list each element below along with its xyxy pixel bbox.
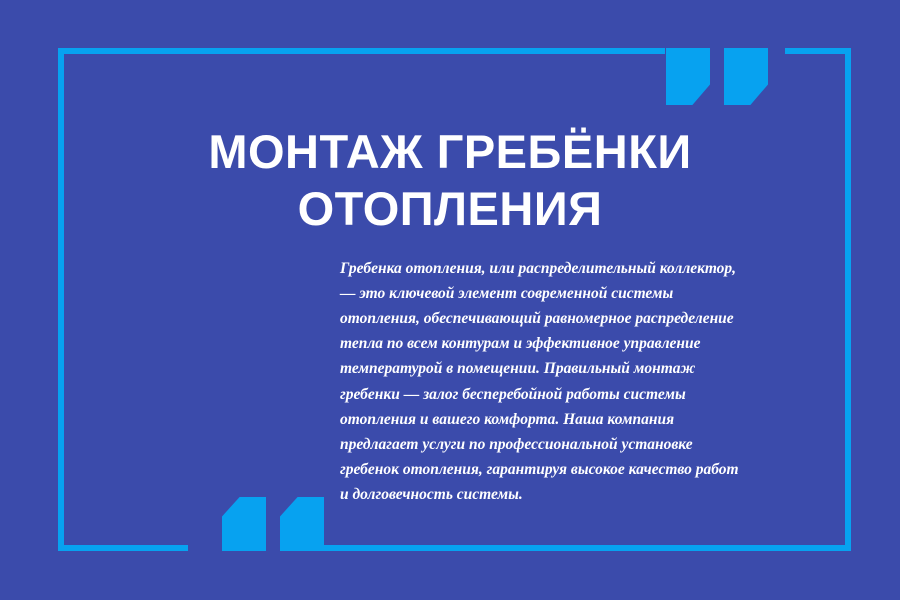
opening-quote-stroke-1 [222, 497, 266, 551]
frame-top-left-bar [58, 48, 665, 54]
frame-left-bar [58, 48, 64, 551]
slide-canvas: МОНТАЖ ГРЕБЁНКИ ОТОПЛЕНИЯ Гребенка отопл… [0, 0, 900, 600]
body-paragraph: Гребенка отопления, или распределительны… [340, 256, 740, 508]
page-title: МОНТАЖ ГРЕБЁНКИ ОТОПЛЕНИЯ [110, 123, 790, 237]
closing-quote-icon [666, 48, 768, 105]
closing-quote-stroke-2 [724, 48, 768, 105]
closing-quote-stroke-1 [666, 48, 710, 105]
frame-bottom-left-bar [58, 545, 188, 551]
frame-top-right-bar [785, 48, 851, 54]
frame-right-bar [845, 48, 851, 551]
frame-bottom-right-bar [322, 545, 851, 551]
opening-quote-icon [222, 497, 324, 551]
opening-quote-stroke-2 [280, 497, 324, 551]
